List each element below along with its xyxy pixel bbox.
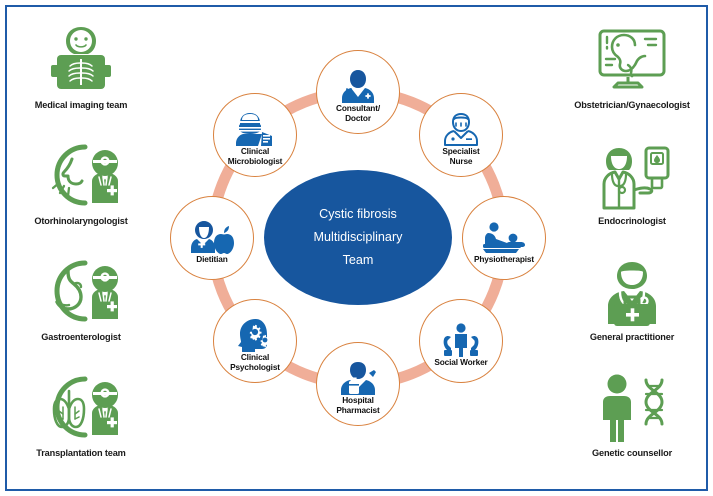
side-item-label: Medical imaging team <box>35 100 127 111</box>
node-dietitian[interactable]: Dietitian <box>170 196 254 280</box>
side-item-gastroenterologist[interactable]: Gastroenterologist <box>13 253 149 369</box>
node-label: Specialist Nurse <box>442 147 479 165</box>
physiotherapy-massage-icon <box>478 214 530 254</box>
side-item-label: Genetic counsellor <box>592 448 672 459</box>
node-social-worker[interactable]: Social Worker <box>419 299 503 383</box>
side-item-medical-imaging-team[interactable]: Medical imaging team <box>13 21 149 137</box>
side-item-otorhinolaryngologist[interactable]: Otorhinolaryngologist <box>13 137 149 253</box>
doctor-medical-bag-icon <box>572 253 692 331</box>
side-item-label: Gastroenterologist <box>41 332 121 343</box>
side-item-label: Endocrinologist <box>598 216 666 227</box>
pharmacist-bottle-icon <box>332 355 384 395</box>
node-specialist-nurse[interactable]: Specialist Nurse <box>419 93 503 177</box>
left-specialist-column: Medical imaging team <box>11 7 151 489</box>
node-label: Dietitian <box>196 255 227 264</box>
node-label: Clinical Microbiologist <box>228 147 283 165</box>
doctor-glucometer-icon <box>572 137 692 215</box>
ultrasound-monitor-fetus-icon <box>572 21 692 99</box>
side-item-transplantation-team[interactable]: Transplantation team <box>13 369 149 485</box>
side-item-label: Otorhinolaryngologist <box>34 216 127 227</box>
side-item-genetic-counsellor[interactable]: Genetic counsellor <box>564 369 700 485</box>
node-clinical-psychologist[interactable]: Clinical Psychologist <box>213 299 297 383</box>
side-item-label: General practitioner <box>590 332 674 343</box>
node-label: Social Worker <box>434 358 487 367</box>
person-in-hands-icon <box>435 317 487 357</box>
center-line-1: Cystic fibrosis <box>319 203 397 226</box>
side-item-endocrinologist[interactable]: Endocrinologist <box>564 137 700 253</box>
nurse-icon <box>435 106 487 146</box>
diagram-frame: Medical imaging team <box>5 5 708 491</box>
center-line-2: Multidisciplinary <box>314 226 403 249</box>
mdt-wheel: Cystic fibrosis Multidisciplinary Team <box>147 7 570 493</box>
nose-ent-doctor-icon <box>21 137 141 215</box>
side-item-label: Transplantation team <box>36 448 125 459</box>
node-label: Physiotherapist <box>474 255 534 264</box>
center-line-3: Team <box>343 249 374 272</box>
person-dna-icon <box>572 369 692 447</box>
node-consultant-doctor[interactable]: Consultant/ Doctor <box>316 50 400 134</box>
node-label: Clinical Psychologist <box>230 353 280 371</box>
lungs-doctor-icon <box>21 369 141 447</box>
node-label: Consultant/ Doctor <box>336 104 380 122</box>
node-hospital-pharmacist[interactable]: Hospital Pharmacist <box>316 342 400 426</box>
dietitian-apple-icon <box>186 214 238 254</box>
center-circle: Cystic fibrosis Multidisciplinary Team <box>264 170 452 305</box>
head-gears-icon <box>229 312 281 352</box>
xray-plate-person-icon <box>21 21 141 99</box>
doctor-stethoscope-icon <box>332 63 384 103</box>
node-label: Hospital Pharmacist <box>336 396 379 414</box>
node-clinical-microbiologist[interactable]: Clinical Microbiologist <box>213 93 297 177</box>
side-item-general-practitioner[interactable]: General practitioner <box>564 253 700 369</box>
node-physiotherapist[interactable]: Physiotherapist <box>462 196 546 280</box>
side-item-label: Obstetrician/Gynaecologist <box>574 100 690 111</box>
side-item-obstetrician-gynaecologist[interactable]: Obstetrician/Gynaecologist <box>564 21 700 137</box>
stomach-doctor-icon <box>21 253 141 331</box>
right-specialist-column: Obstetrician/Gynaecologist <box>562 7 702 489</box>
microbiologist-mask-icon <box>229 106 281 146</box>
